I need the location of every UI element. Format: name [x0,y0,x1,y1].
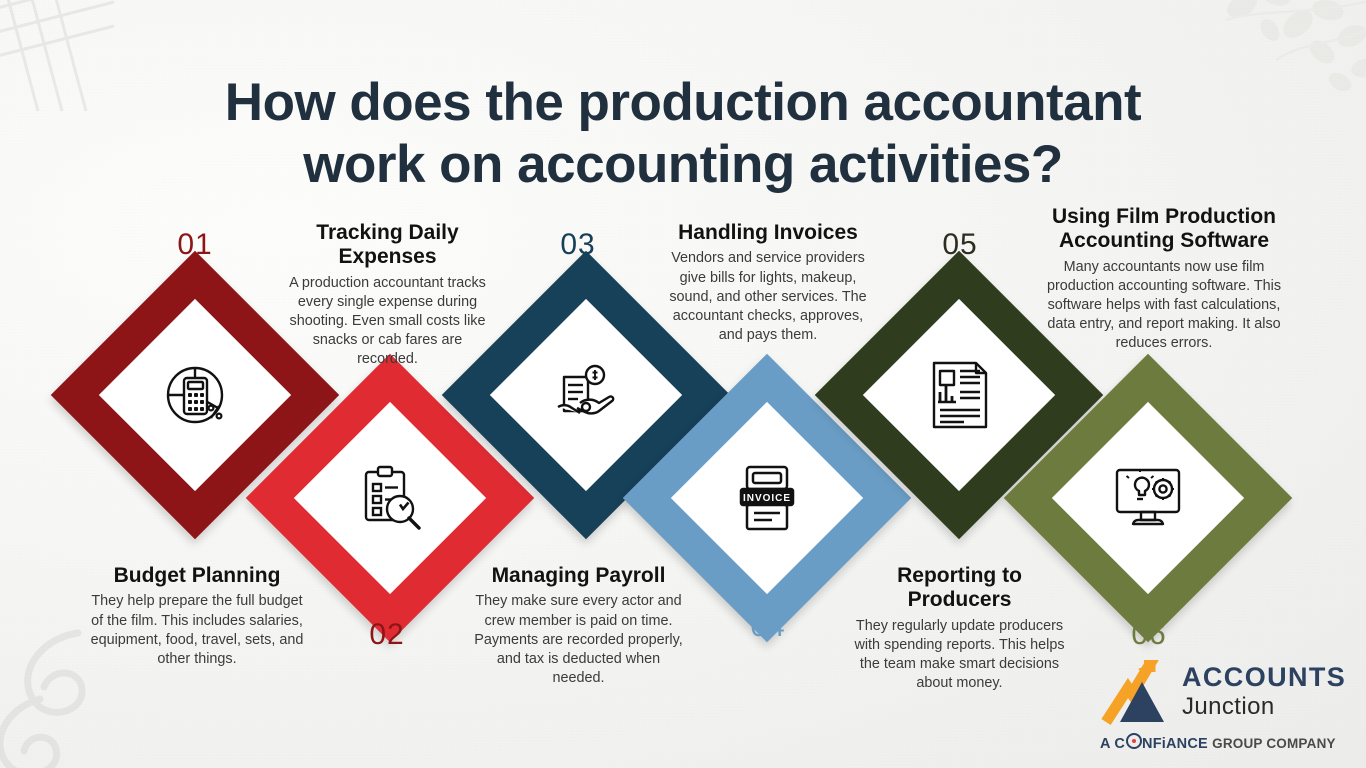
calculator-pie-chart-icon [158,358,232,432]
step-text-03: Managing Payroll They make sure every ac… [471,564,686,688]
step-title-05: Reporting to Producers [849,564,1070,613]
diamond-step-6-icon-plate [1052,402,1244,594]
diamond-step-3-icon-plate [490,299,682,491]
tagline-post: GROUP COMPANY [1212,736,1336,751]
step-title-01: Budget Planning [88,564,306,588]
confiance-o-icon [1126,733,1142,749]
step-body-06: Many accountants now use film production… [1036,258,1292,354]
step-title-03: Managing Payroll [471,564,686,588]
svg-text:INVOICE: INVOICE [743,493,791,504]
accounts-junction-logo[interactable]: ACCOUNTS Junction A CNFiANCE GROUP COMPA… [1098,658,1344,754]
logo-wordmark: ACCOUNTS Junction [1182,664,1346,719]
step-body-02: A production accountant tracks every sin… [281,274,494,370]
step-body-03: They make sure every actor and crew memb… [471,592,686,688]
step-number-04: 04 [733,610,803,644]
monitor-bulb-gear-icon [1111,462,1185,534]
step-number-01: 01 [160,228,230,262]
step-title-04: Handling Invoices [660,221,876,245]
step-title-06: Using Film Production Accounting Softwar… [1036,205,1292,254]
diamond-step-5-icon-plate [863,299,1055,491]
logo-line-1: ACCOUNTS [1182,664,1346,691]
hand-money-payment-icon [550,359,622,431]
step-text-05: Reporting to Producers They regularly up… [849,564,1070,693]
clipboard-magnifier-icon [354,462,426,534]
logo-line-2: Junction [1182,694,1346,719]
logo-arrow-mountain-icon [1098,660,1180,728]
step-text-04: Handling Invoices Vendors and service pr… [660,221,876,345]
tagline-pre: A C [1100,736,1125,752]
step-text-01: Budget Planning They help prepare the fu… [88,564,306,669]
step-text-06: Using Film Production Accounting Softwar… [1036,205,1292,354]
invoice-printer-icon: INVOICE [732,461,802,535]
step-body-04: Vendors and service providers give bills… [660,249,876,345]
logo-tagline: A CNFiANCE GROUP COMPANY [1100,732,1336,752]
diamond-step-1-icon-plate [99,299,291,491]
report-document-chart-icon [924,358,994,432]
step-body-05: They regularly update producers with spe… [849,617,1070,694]
step-title-02: Tracking Daily Expenses [281,221,494,270]
diamond-step-2-icon-plate [294,402,486,594]
step-number-02: 02 [352,618,422,652]
step-body-01: They help prepare the full budget of the… [88,592,306,669]
tagline-mid: NFiANCE [1142,736,1208,752]
diamond-step-4-icon-plate: INVOICE [671,402,863,594]
step-number-06: 06 [1114,618,1184,652]
step-number-05: 05 [925,228,995,262]
step-number-03: 03 [543,228,613,262]
infographic-canvas: How does the production accountant work … [0,0,1366,768]
step-text-02: Tracking Daily Expenses A production acc… [281,221,494,370]
